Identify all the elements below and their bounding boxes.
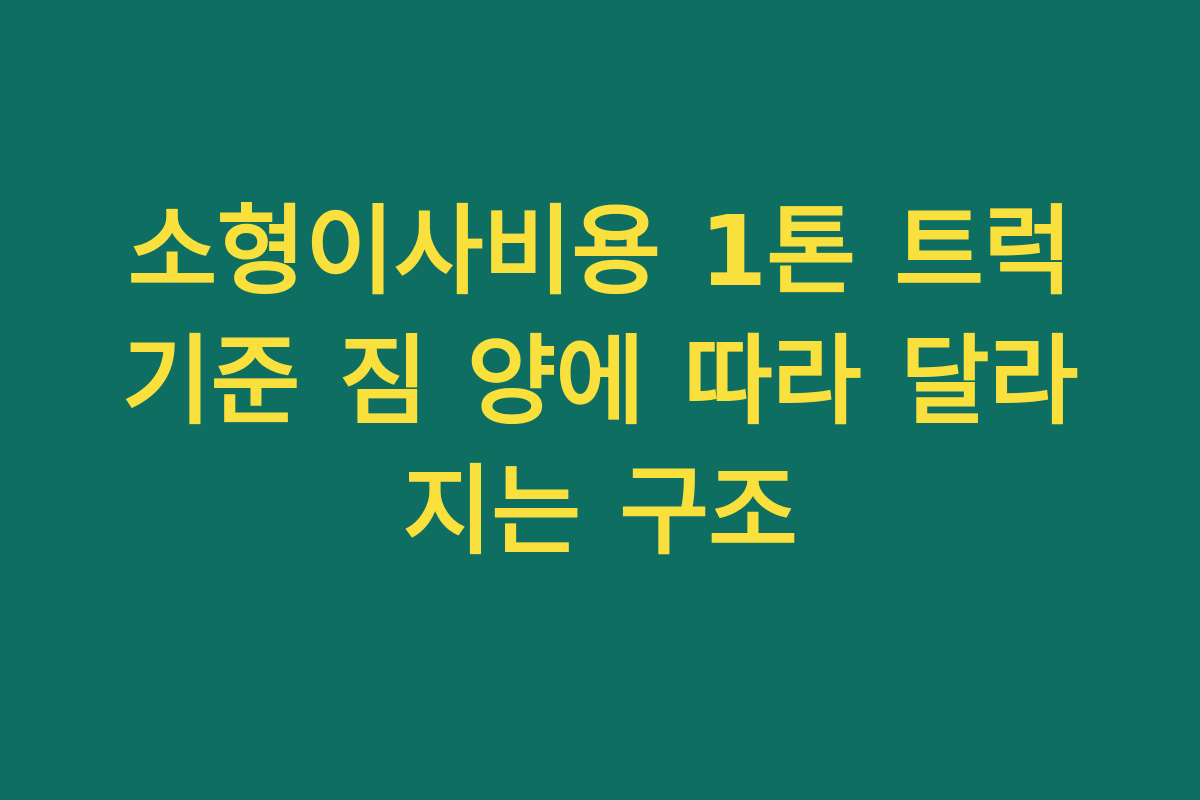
- headline-line-1: 소형이사비용 1톤 트럭: [95, 187, 1105, 317]
- headline-line-2: 기준 짐 양에 따라 달라: [95, 317, 1105, 447]
- banner-canvas: 소형이사비용 1톤 트럭 기준 짐 양에 따라 달라 지는 구조: [0, 0, 1200, 800]
- headline-line-3: 지는 구조: [95, 447, 1105, 577]
- page-title: 소형이사비용 1톤 트럭 기준 짐 양에 따라 달라 지는 구조: [95, 187, 1105, 577]
